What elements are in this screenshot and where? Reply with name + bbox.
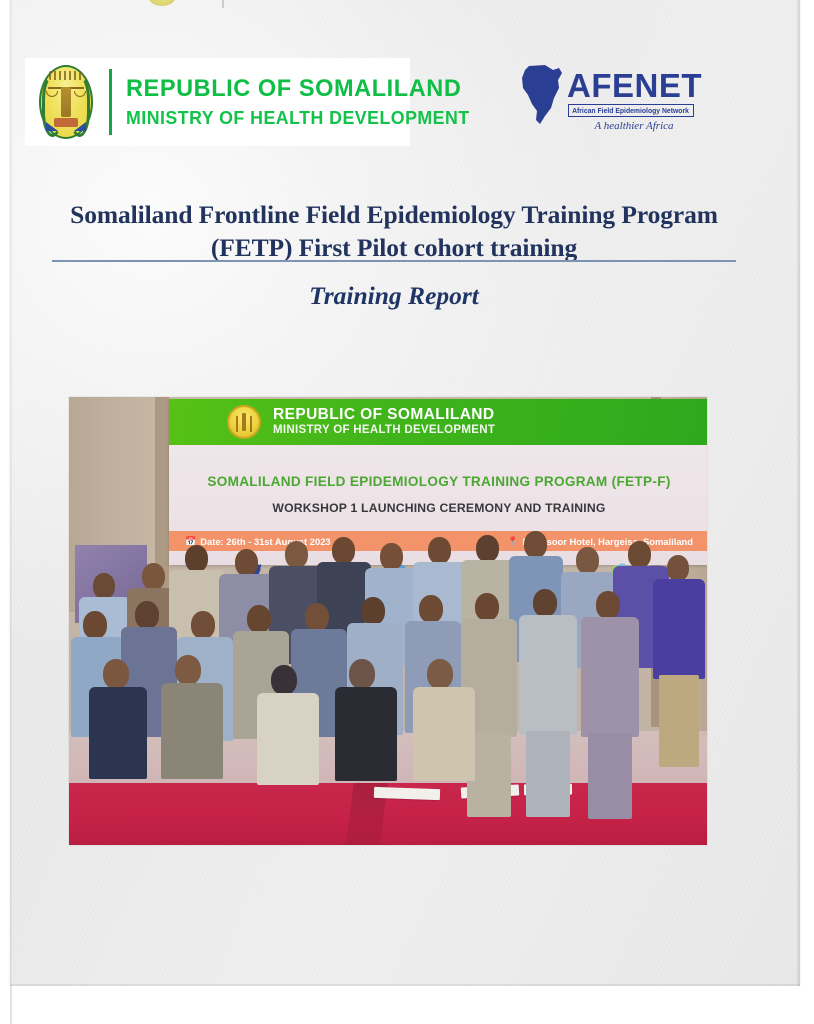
document-subtitle: Training Report	[52, 281, 736, 311]
document-title: Somaliland Frontline Field Epidemiology …	[52, 198, 736, 264]
group-photograph: REPUBLIC OF SOMALILAND MINISTRY OF HEALT…	[69, 397, 707, 845]
ministry-logo-text: REPUBLIC OF SOMALILAND MINISTRY OF HEALT…	[126, 77, 484, 127]
banner-workshop-subtitle: WORKSHOP 1 LAUNCHING CEREMONY AND TRAINI…	[169, 501, 707, 515]
header-logo-row: REPUBLIC OF SOMALILAND MINISTRY OF HEALT…	[10, 58, 800, 150]
title-divider-rule	[52, 260, 736, 262]
photo-paper-sheet	[374, 787, 440, 800]
cropped-crest-icon	[148, 0, 176, 6]
somaliland-national-crest-icon	[35, 61, 97, 143]
document-title-line1: Somaliland Frontline Field Epidemiology …	[70, 200, 718, 229]
cropped-divider	[222, 0, 224, 8]
africa-map-icon	[515, 64, 571, 126]
ministry-logo-line2: MINISTRY OF HEALTH DEVELOPMENT	[126, 109, 470, 128]
afenet-expansion-text: African Field Epidemiology Network	[573, 106, 690, 115]
page-edge-shadow	[10, 986, 12, 1024]
banner-crest-icon	[227, 405, 261, 439]
banner-header-text: REPUBLIC OF SOMALILAND MINISTRY OF HEALT…	[273, 407, 495, 436]
afenet-wordmark: AFENET	[567, 69, 702, 102]
location-pin-icon: 📍	[507, 537, 518, 546]
afenet-expansion-bar: African Field Epidemiology Network	[568, 104, 694, 117]
banner-program-title: SOMALILAND FIELD EPIDEMIOLOGY TRAINING P…	[169, 474, 707, 489]
banner-venue-text: Maansoor Hotel, Hargeisa, Somaliland	[523, 536, 693, 547]
page-title: Somaliland Frontline Field Epidemiology …	[52, 198, 736, 264]
banner-date: 📅 Date: 26th - 31st August 2023	[185, 536, 331, 547]
afenet-tagline: A healthier Africa	[579, 120, 689, 132]
banner-header: REPUBLIC OF SOMALILAND MINISTRY OF HEALT…	[169, 399, 707, 445]
logo-divider	[109, 69, 112, 135]
ministry-logo: REPUBLIC OF SOMALILAND MINISTRY OF HEALT…	[25, 58, 410, 146]
previous-page-sliver	[10, 0, 800, 9]
ministry-logo-line1: REPUBLIC OF SOMALILAND	[126, 77, 470, 102]
banner-header-line2: MINISTRY OF HEALTH DEVELOPMENT	[273, 424, 495, 436]
banner-header-line1: REPUBLIC OF SOMALILAND	[273, 407, 495, 424]
viewer-background	[0, 986, 814, 1024]
banner-date-text: Date: 26th - 31st August 2023	[200, 536, 330, 547]
afenet-logo: AFENET African Field Epidemiology Networ…	[505, 62, 705, 142]
document-title-line2: (FETP) First Pilot cohort training	[211, 233, 577, 262]
